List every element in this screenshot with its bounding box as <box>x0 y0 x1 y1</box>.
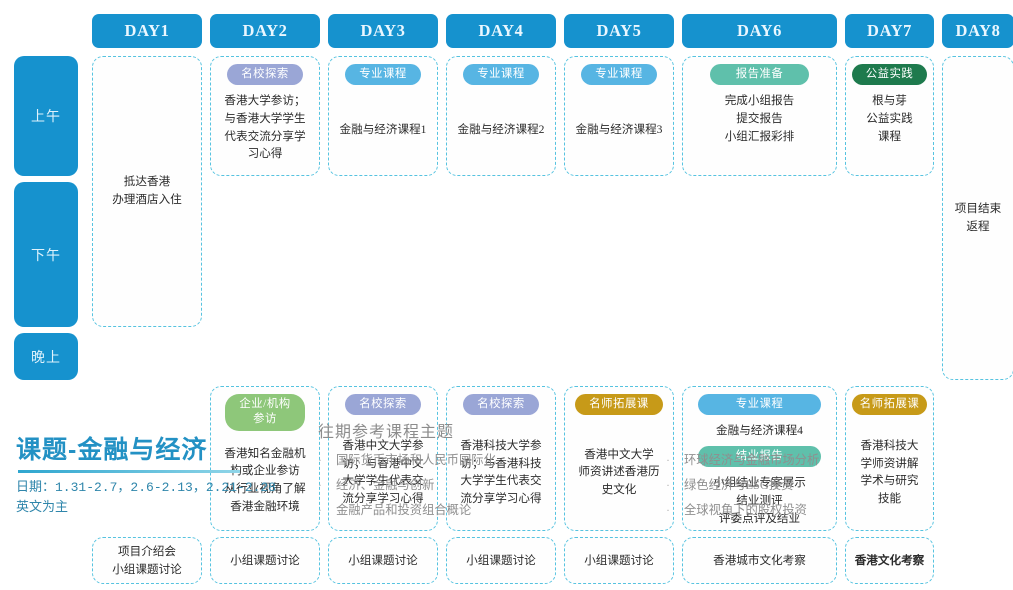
tag-pill: 专业课程 <box>345 64 421 85</box>
day-header-day7[interactable]: DAY7 <box>845 14 934 48</box>
tag-pill: 报告准备 <box>710 64 810 85</box>
cell-day5-evening[interactable]: 小组课题讨论 <box>564 537 674 584</box>
cell-text: 香港大学参访； 与香港大学学生 代表交流分享学 习心得 <box>224 92 305 162</box>
list-item-label: 金融产品和投资组合概论 <box>336 500 471 518</box>
title-underline <box>18 470 240 473</box>
cell-text: 香港文化考察 <box>855 552 925 570</box>
cell-day4-morning[interactable]: 专业课程 金融与经济课程2 <box>446 56 556 176</box>
day-header-day1[interactable]: DAY1 <box>92 14 202 48</box>
morning-row: 抵达香港 办理酒店入住 名校探索 香港大学参访； 与香港大学学生 代表交流分享学… <box>92 56 1013 380</box>
cell-text: 根与芽 公益实践 课程 <box>866 92 912 145</box>
day-header-day2[interactable]: DAY2 <box>210 14 320 48</box>
bullet-icon: · <box>318 479 322 491</box>
bullet-icon: · <box>666 479 670 491</box>
day-header-day6[interactable]: DAY6 <box>682 14 837 48</box>
list-item-label: 绿色经济与ESG投资 <box>684 475 793 493</box>
day-header-day8[interactable]: DAY8 <box>942 14 1013 48</box>
day-header-day5[interactable]: DAY5 <box>564 14 674 48</box>
past-courses-title: 往期参考课程主题 <box>318 418 454 442</box>
past-courses-right-column: · 环球经济与金融市场分析 · 绿色经济与ESG投资 · 全球视角下的股权投资 <box>666 450 966 518</box>
cell-day6-morning[interactable]: 报告准备 完成小组报告 提交报告 小组汇报彩排 <box>682 56 837 176</box>
list-item-label: 国际货币市场和人民币国际化 <box>336 450 496 468</box>
day-header-row: DAY1 DAY2 DAY3 DAY4 DAY5 DAY6 DAY7 DAY8 <box>92 14 1013 48</box>
cell-day7-morning[interactable]: 公益实践 根与芽 公益实践 课程 <box>845 56 934 176</box>
cell-day2-evening[interactable]: 小组课题讨论 <box>210 537 320 584</box>
evening-row: 项目介绍会 小组课题讨论 小组课题讨论 小组课题讨论 小组课题讨论 小组课题讨论… <box>92 537 1013 584</box>
day-header-day3[interactable]: DAY3 <box>328 14 438 48</box>
cell-text: 项目介绍会 小组课题讨论 <box>112 543 182 578</box>
topic-title: 课题-金融与经济 <box>16 430 207 466</box>
list-item-label: 经济、金融与创新 <box>336 475 434 493</box>
cell-text: 完成小组报告 提交报告 小组汇报彩排 <box>725 92 795 145</box>
row-label-evening: 晚上 <box>14 333 78 380</box>
cell-text: 抵达香港 办理酒店入住 <box>112 173 182 208</box>
tag-pill: 名校探索 <box>227 64 303 85</box>
row-label-column: 上午 下午 晚上 <box>14 56 78 386</box>
topic-meta: 日期：1.31-2.7，2.6-2.13，2.21-2.28 英文为主 <box>16 478 276 518</box>
cell-text: 金融与经济课程1 <box>340 121 427 139</box>
list-item: · 金融产品和投资组合概论 <box>318 500 618 518</box>
cell-day1-evening[interactable]: 项目介绍会 小组课题讨论 <box>92 537 202 584</box>
day-header-day4[interactable]: DAY4 <box>446 14 556 48</box>
bullet-icon: · <box>318 454 322 466</box>
bullet-icon: · <box>318 504 322 516</box>
cell-day3-evening[interactable]: 小组课题讨论 <box>328 537 438 584</box>
row-label-afternoon: 下午 <box>14 182 78 327</box>
tag-pill: 专业课程 <box>581 64 657 85</box>
cell-text: 项目结束 返程 <box>955 200 1001 235</box>
list-item: · 绿色经济与ESG投资 <box>666 475 966 493</box>
cell-text: 小组课题讨论 <box>230 552 300 570</box>
row-label-morning: 上午 <box>14 56 78 176</box>
past-courses-left-column: · 国际货币市场和人民币国际化 · 经济、金融与创新 · 金融产品和投资组合概论 <box>318 450 618 518</box>
cell-day6-evening[interactable]: 香港城市文化考察 <box>682 537 837 584</box>
cell-text: 金融与经济课程3 <box>576 121 663 139</box>
list-item: · 环球经济与金融市场分析 <box>666 450 966 468</box>
past-courses-columns: · 国际货币市场和人民币国际化 · 经济、金融与创新 · 金融产品和投资组合概论… <box>318 450 966 518</box>
cell-text: 小组课题讨论 <box>584 552 654 570</box>
cell-day7-evening[interactable]: 香港文化考察 <box>845 537 934 584</box>
list-item: · 国际货币市场和人民币国际化 <box>318 450 618 468</box>
bullet-icon: · <box>666 454 670 466</box>
cell-text: 小组课题讨论 <box>466 552 536 570</box>
bottom-panel: 课题-金融与经济 日期：1.31-2.7，2.6-2.13，2.21-2.28 … <box>0 408 1013 532</box>
cell-day3-morning[interactable]: 专业课程 金融与经济课程1 <box>328 56 438 176</box>
cell-day4-evening[interactable]: 小组课题讨论 <box>446 537 556 584</box>
cell-text: 香港城市文化考察 <box>713 552 806 570</box>
cell-day2-morning[interactable]: 名校探索 香港大学参访； 与香港大学学生 代表交流分享学 习心得 <box>210 56 320 176</box>
cell-text: 金融与经济课程2 <box>458 121 545 139</box>
schedule-grid: DAY1 DAY2 DAY3 DAY4 DAY5 DAY6 DAY7 DAY8 … <box>0 0 1013 408</box>
cell-day8-departure[interactable]: 项目结束 返程 <box>942 56 1013 380</box>
list-item-label: 全球视角下的股权投资 <box>684 500 807 518</box>
tag-pill: 公益实践 <box>852 64 928 85</box>
cell-text: 小组课题讨论 <box>348 552 418 570</box>
list-item-label: 环球经济与金融市场分析 <box>684 450 819 468</box>
tag-pill: 专业课程 <box>463 64 539 85</box>
cell-day1-arrival[interactable]: 抵达香港 办理酒店入住 <box>92 56 202 327</box>
list-item: · 经济、金融与创新 <box>318 475 618 493</box>
list-item: · 全球视角下的股权投资 <box>666 500 966 518</box>
bullet-icon: · <box>666 504 670 516</box>
cell-day5-morning[interactable]: 专业课程 金融与经济课程3 <box>564 56 674 176</box>
